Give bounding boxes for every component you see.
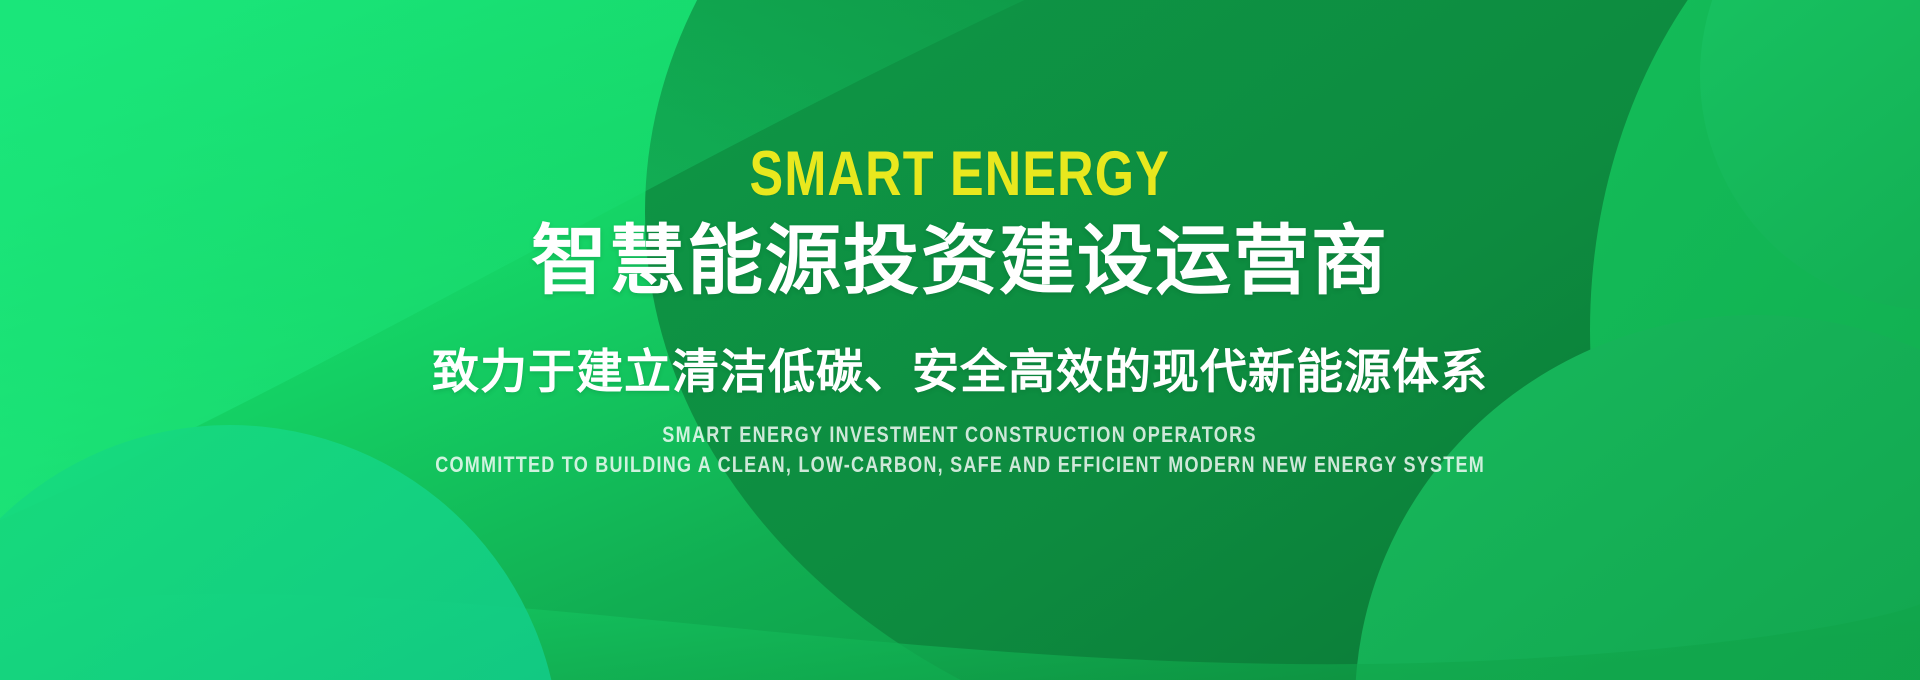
banner-headline-chinese: 智慧能源投资建设运营商: [531, 224, 1389, 300]
hero-banner: SMART ENERGY 智慧能源投资建设运营商 致力于建立清洁低碳、安全高效的…: [0, 0, 1920, 680]
banner-english-line-1: SMART ENERGY INVESTMENT CONSTRUCTION OPE…: [663, 423, 1258, 448]
banner-eyebrow: SMART ENERGY: [750, 143, 1170, 206]
banner-subheadline-chinese: 致力于建立清洁低碳、安全高效的现代新能源体系: [432, 348, 1488, 395]
banner-content: SMART ENERGY 智慧能源投资建设运营商 致力于建立清洁低碳、安全高效的…: [0, 0, 1920, 680]
banner-english-line-2: COMMITTED TO BUILDING A CLEAN, LOW-CARBO…: [435, 453, 1485, 478]
